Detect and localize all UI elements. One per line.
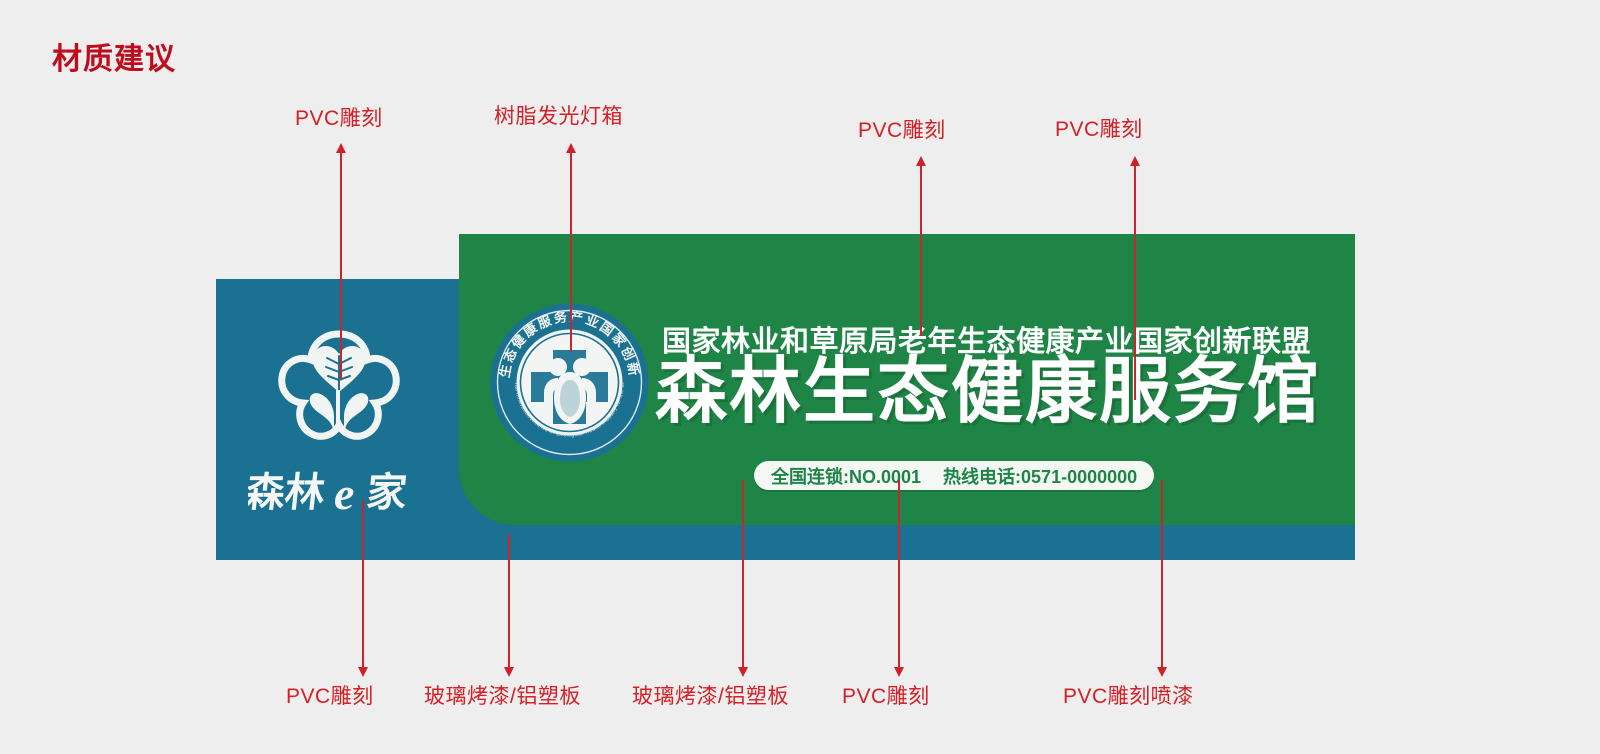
annotation-label-bottom-1: 玻璃烤漆/铝塑板 (424, 680, 581, 710)
forest-cloud-heart-hands-logo (254, 322, 424, 462)
annotation-label-top-1: 树脂发光灯箱 (494, 100, 623, 130)
annotation-label-top-0: PVC雕刻 (295, 102, 383, 132)
annotation-label-bottom-4: PVC雕刻喷漆 (1063, 680, 1194, 710)
hotline-number: 热线电话:0571-0000000 (943, 463, 1137, 489)
annotation-label-bottom-3: PVC雕刻 (842, 680, 930, 710)
leader-line-top-0 (340, 152, 342, 380)
svg-text:e: e (334, 468, 354, 519)
arrowhead-up-top-2 (916, 156, 926, 166)
leader-line-bottom-1 (508, 534, 510, 668)
annotation-label-top-3: PVC雕刻 (1055, 113, 1143, 143)
arrowhead-down-bottom-3 (894, 667, 904, 677)
arrowhead-up-top-0 (336, 143, 346, 153)
leader-line-bottom-0 (362, 500, 364, 668)
leader-line-top-3 (1134, 165, 1136, 400)
svg-text:森林: 森林 (248, 470, 327, 516)
arrowhead-up-top-3 (1130, 156, 1140, 166)
sign-info-pill: 全国连锁:NO.0001 热线电话:0571-0000000 (754, 461, 1154, 490)
signage-mockup-canvas: 材质建议 (0, 0, 1600, 754)
leader-line-bottom-4 (1161, 480, 1163, 668)
arrowhead-down-bottom-1 (504, 667, 514, 677)
leader-line-top-1 (570, 152, 572, 352)
arrowhead-up-top-1 (566, 143, 576, 153)
arrowhead-down-bottom-2 (738, 667, 748, 677)
page-title: 材质建议 (52, 34, 176, 78)
arrowhead-down-bottom-4 (1157, 667, 1167, 677)
leader-line-bottom-2 (742, 480, 744, 668)
svg-text:家: 家 (364, 470, 409, 516)
left-logo-wordmark: 森林 e 家 (248, 462, 433, 520)
annotation-label-bottom-2: 玻璃烤漆/铝塑板 (632, 680, 789, 710)
leader-line-top-2 (920, 165, 922, 336)
sign-headline: 森林生态健康服务馆 (655, 356, 1321, 429)
annotation-label-top-2: PVC雕刻 (858, 114, 946, 144)
leader-line-bottom-3 (898, 480, 900, 668)
annotation-label-bottom-0: PVC雕刻 (286, 680, 374, 710)
arrowhead-down-bottom-0 (358, 667, 368, 677)
